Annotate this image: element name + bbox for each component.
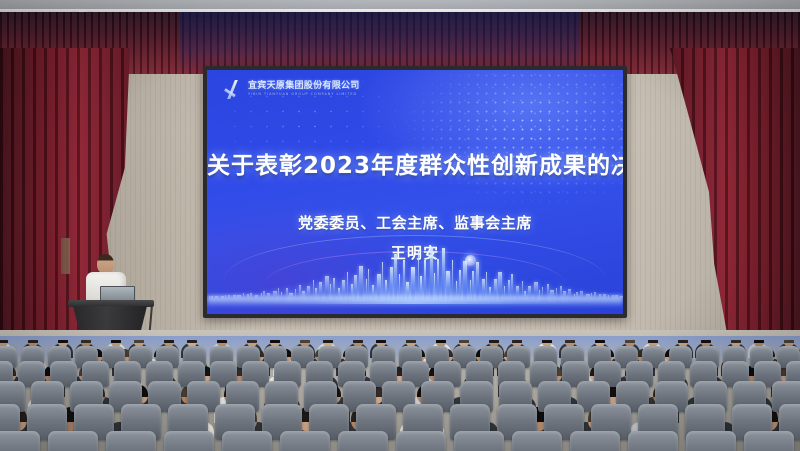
auditorium-seat [686, 431, 736, 451]
auditorium-seat [222, 431, 272, 451]
company-name-cn: 宜宾天原集团股份有限公司 [248, 82, 360, 91]
conference-hall-photo: 宜宾天原集团股份有限公司 YIBIN TIANYUAN GROUP COMPAN… [0, 0, 800, 451]
auditorium-seat [454, 431, 504, 451]
mountain-stroke-logo-icon [223, 79, 243, 99]
auditorium-seat [512, 431, 562, 451]
auditorium-seat [338, 431, 388, 451]
auditorium-seat [628, 431, 678, 451]
auditorium-seat [570, 431, 620, 451]
skyline-baseline [207, 296, 623, 306]
auditorium-seat [0, 431, 40, 451]
skyline-buildings [207, 244, 623, 300]
auditorium-seat [164, 431, 214, 451]
company-logo: 宜宾天原集团股份有限公司 YIBIN TIANYUAN GROUP COMPAN… [223, 79, 360, 99]
presenter-head [97, 254, 114, 274]
slide-title: 关于表彰2023年度群众性创新成果的决定 [207, 146, 623, 180]
auditorium-seat [396, 431, 446, 451]
seated-audience [0, 340, 800, 451]
auditorium-seat [48, 431, 98, 451]
company-name-en: YIBIN TIANYUAN GROUP COMPANY LIMITED [248, 93, 360, 96]
podium-top [68, 300, 154, 307]
auditorium-seat [106, 431, 156, 451]
led-screen-bezel: 宜宾天原集团股份有限公司 YIBIN TIANYUAN GROUP COMPAN… [203, 66, 627, 318]
auditorium-seat [744, 431, 794, 451]
auditorium-seat [280, 431, 330, 451]
city-skyline-graphic [207, 219, 623, 314]
presentation-slide: 宜宾天原集团股份有限公司 YIBIN TIANYUAN GROUP COMPAN… [207, 70, 623, 314]
